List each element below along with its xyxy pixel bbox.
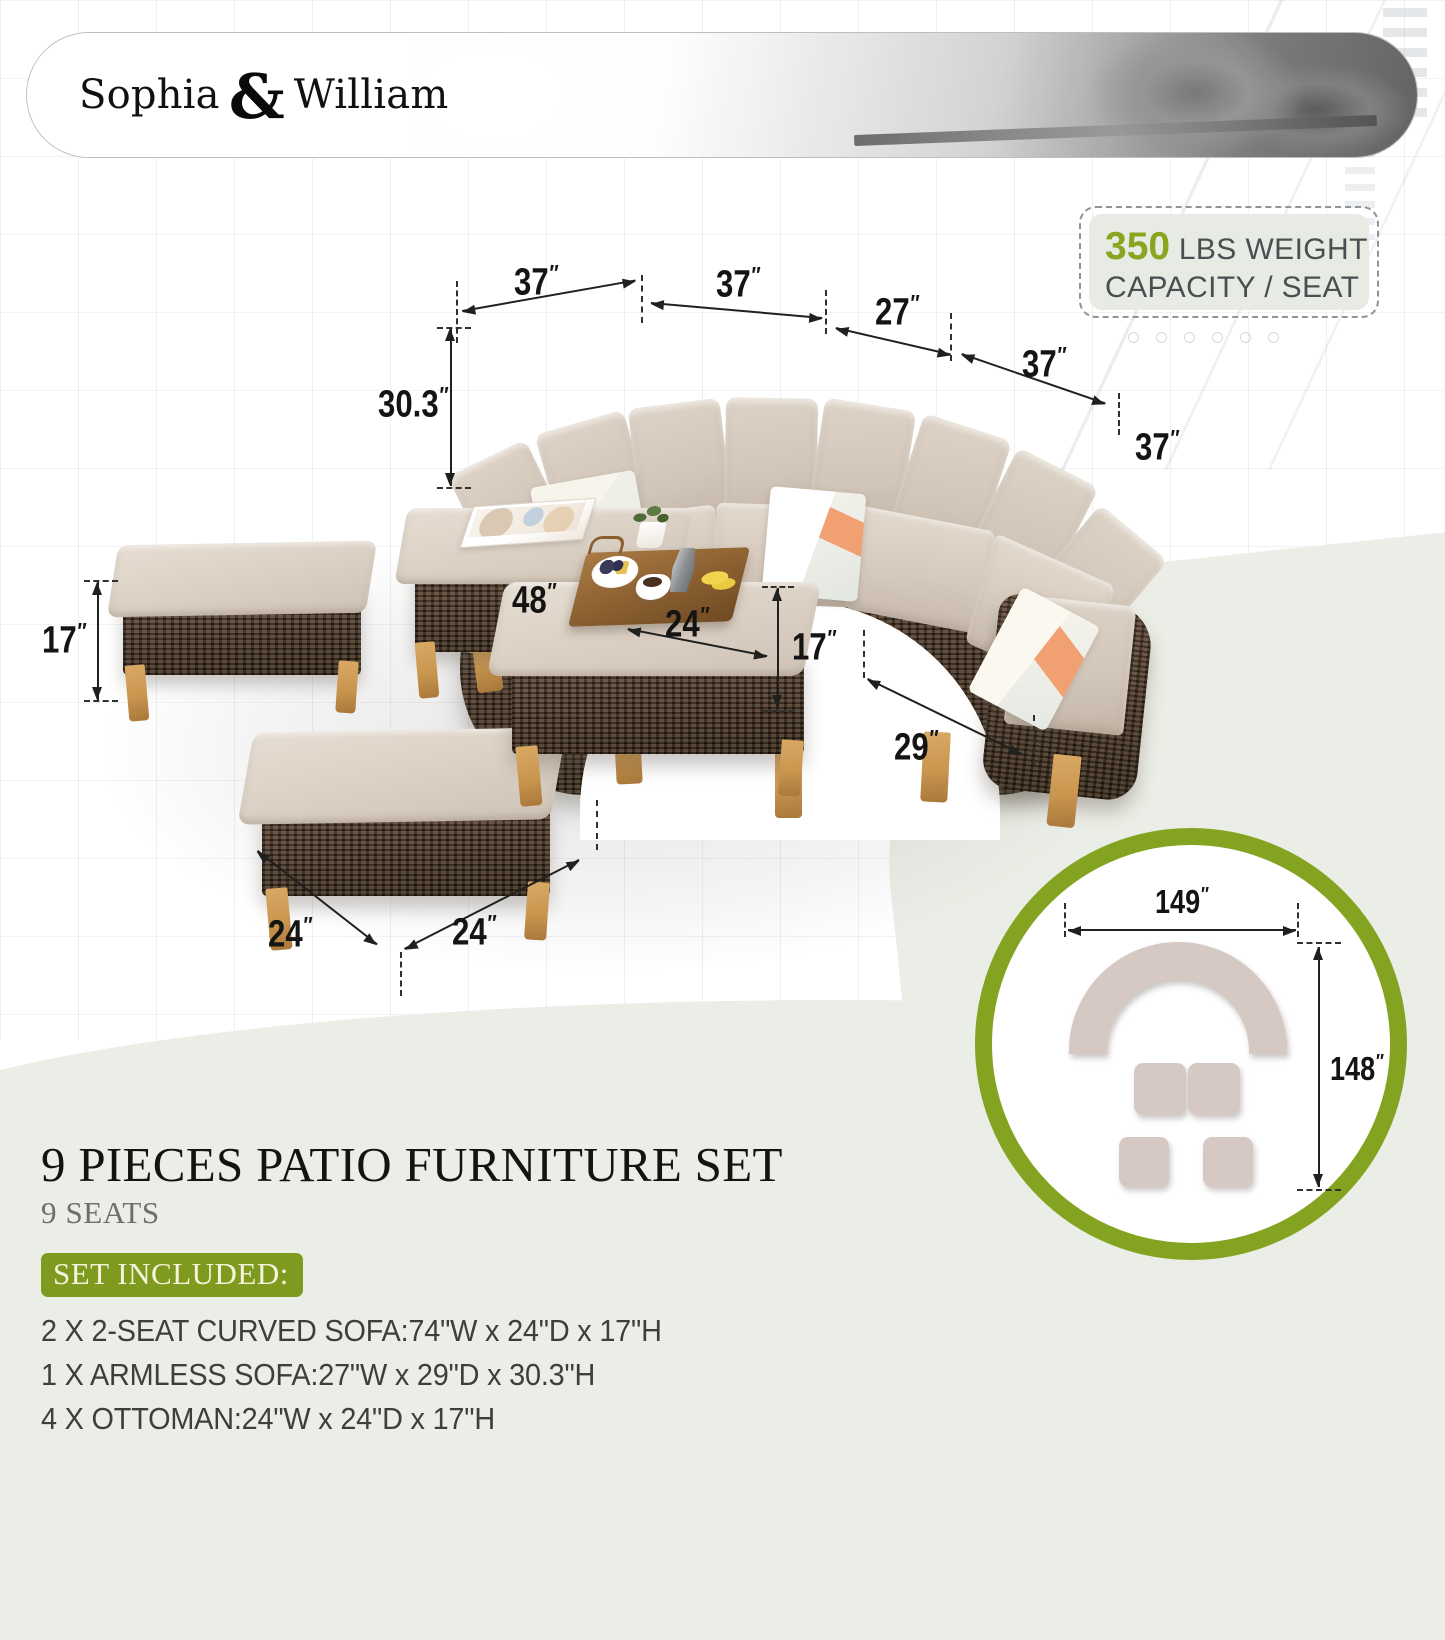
set-included-label: SET INCLUDED:: [53, 1256, 289, 1291]
ottoman-back-left-leg-2: [335, 660, 359, 713]
plant-leaves: [627, 502, 675, 528]
dimlabel-sofa-depth: 29″: [894, 725, 938, 770]
tickline-ottl-bottom: [84, 700, 118, 702]
craftsmanship-photo: [412, 33, 1417, 157]
set-included-list: 2 X 2-SEAT CURVED SOFA:74"W x 24"D x 17"…: [41, 1309, 941, 1441]
ottoman-front-left-leg-2: [524, 881, 550, 940]
dimline-table-height: [777, 588, 779, 708]
ottoman-back-left-cushion: [107, 541, 377, 617]
infographic-root: Sophia & William 350 LBS WEIGHT CAPACITY…: [0, 0, 1445, 1445]
dimlabel-table-depth: 24″: [665, 602, 709, 647]
tick-seg2-right: [825, 290, 827, 334]
tickline-backheight-bottom: [437, 487, 471, 489]
dimlabel-sofa-seg2: 37″: [716, 262, 760, 307]
floorplan-ottoman-4: [1203, 1137, 1253, 1187]
tick-seg1-right: [641, 275, 643, 323]
dimlabel-ottoman-front-width: 24″: [452, 910, 496, 955]
floorplan-ottoman-2: [1188, 1063, 1240, 1115]
tray-handle: [587, 536, 626, 554]
dimlabel-ottoman-front-depth: 24″: [268, 912, 312, 957]
product-title: 9 PIECES PATIO FURNITURE SET: [41, 1140, 941, 1191]
dimlabel-sofa-seg1: 37″: [514, 260, 558, 305]
tick-depth-a: [863, 630, 865, 678]
footer-text-block: 9 PIECES PATIO FURNITURE SET 9 SEATS SET…: [41, 1140, 941, 1441]
dimlabel-sofa-seg4: 37″: [1022, 342, 1066, 387]
dimline-ottoman-left-height: [97, 582, 99, 700]
floorplan-corner-connector: [1297, 942, 1341, 944]
floorplan-diagram: 149″ 148″: [992, 845, 1390, 1243]
dimlabel-sofa-seg3: 27″: [875, 290, 919, 335]
tick-ottfront-right: [596, 800, 598, 850]
brand-logo: Sophia & William: [79, 70, 448, 120]
tray-berries: [598, 560, 629, 574]
floorplan-tick-right: [1297, 903, 1299, 937]
fruit-bananas: [696, 562, 742, 596]
dimlabel-ottoman-left-height: 17″: [42, 618, 86, 663]
floorplan-ottoman-3: [1119, 1137, 1169, 1187]
floorplan-dimline-width: [1068, 929, 1296, 931]
brand-word-first: Sophia: [79, 72, 220, 118]
header-banner: Sophia & William: [26, 32, 1418, 158]
floorplan-tick-left: [1064, 903, 1066, 937]
tick-seg1-left: [456, 281, 458, 343]
set-item: 2 X 2-SEAT CURVED SOFA:74"W x 24"D x 17"…: [41, 1309, 878, 1353]
floorplan-label-width: 149″: [1155, 883, 1208, 921]
dimlabel-sofa-arm: 37″: [1135, 425, 1179, 470]
dimlabel-sofa-back-height: 30.3″: [378, 382, 448, 427]
dimlabel-table-height: 17″: [792, 625, 836, 670]
floorplan-tick-bottom: [1297, 1189, 1341, 1191]
product-subtitle: 9 SEATS: [41, 1195, 941, 1231]
floorplan-ottoman-1: [1134, 1063, 1186, 1115]
tick-depth-b: [1033, 715, 1035, 765]
floorplan-sofa-arc: [1069, 942, 1287, 1054]
floorplan-dimline-height: [1318, 947, 1320, 1187]
dimlabel-table-width: 48″: [512, 578, 556, 623]
dimline-sofa-back-height: [450, 328, 452, 486]
floorplan-label-height: 148″: [1330, 1050, 1383, 1088]
brand-ampersand: &: [229, 72, 285, 122]
set-included-badge: SET INCLUDED:: [41, 1253, 303, 1297]
ottoman-back-left: [105, 525, 375, 705]
ottoman-table-front-leg-1: [515, 745, 542, 807]
set-item: 4 X OTTOMAN:24"W x 24"D x 17"H: [41, 1397, 878, 1441]
tickline-table-bottom: [762, 710, 794, 712]
tick-seg3-right: [950, 313, 952, 361]
set-item: 1 X ARMLESS SOFA:27"W x 29"D x 30.3"H: [41, 1353, 878, 1397]
ottoman-table-front-leg-2: [778, 739, 804, 796]
floorplan-circle: 149″ 148″: [975, 828, 1407, 1260]
tick-seg4-right: [1118, 393, 1120, 435]
tick-ottfront-bottom: [400, 952, 402, 996]
brand-word-second: William: [294, 72, 449, 118]
